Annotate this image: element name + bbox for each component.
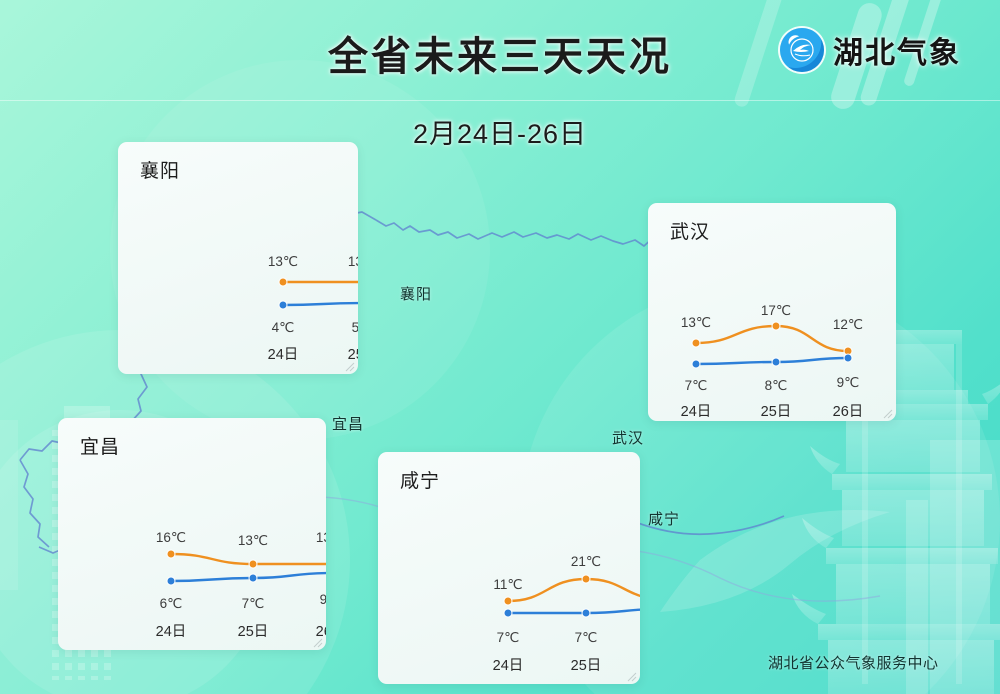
high-temp-label: 21℃: [571, 554, 601, 569]
low-temp-label: 7℃: [685, 378, 708, 393]
high-temp-label: 17℃: [761, 303, 791, 318]
resize-handle-icon[interactable]: [341, 358, 355, 372]
brand-logo: 湖北气象: [780, 28, 961, 72]
high-temp-label: 12℃: [833, 317, 863, 332]
high-temp-label: 13℃: [316, 530, 326, 545]
low-temp-label: 7℃: [242, 596, 265, 611]
header-divider: [0, 100, 1000, 101]
day-axis-label: 26日: [833, 404, 864, 420]
low-temp-label: 7℃: [497, 630, 520, 645]
infographic-root: 全省未来三天天况 2月24日-26日 湖北气象 襄阳宜昌武汉咸宁 襄阳13℃13…: [0, 0, 1000, 694]
resize-handle-icon[interactable]: [623, 668, 637, 682]
day-axis-label: 25日: [571, 658, 602, 674]
day-axis-label: 25日: [761, 404, 792, 420]
day-axis-label: 24日: [493, 658, 524, 674]
map-label-xianning: 咸宁: [648, 508, 680, 529]
day-axis-label: 25日: [238, 624, 269, 640]
hubei-weather-emblem-icon: [780, 28, 824, 72]
day-axis-label: 24日: [681, 404, 712, 420]
low-temp-label: 6℃: [160, 596, 183, 611]
city-card-xiangyang[interactable]: 襄阳13℃13℃12℃4℃5℃6℃24日25日26日: [118, 142, 358, 374]
brand-name: 湖北气象: [833, 28, 961, 72]
temperature-line-chart: 13℃13℃12℃4℃5℃6℃24日25日26日: [118, 142, 358, 374]
map-label-xiangyang: 襄阳: [400, 283, 432, 304]
city-card-xianning[interactable]: 咸宁11℃21℃12℃7℃7℃8℃24日25日26日: [378, 452, 640, 684]
low-temp-label: 9℃: [837, 375, 860, 390]
high-temp-label: 13℃: [681, 315, 711, 330]
low-temp-label: 8℃: [765, 378, 788, 393]
high-temp-label: 16℃: [156, 530, 186, 545]
temperature-line-chart: 16℃13℃13℃6℃7℃9℃24日25日26日: [58, 418, 326, 650]
city-card-wuhan[interactable]: 武汉13℃17℃12℃7℃8℃9℃24日25日26日: [648, 203, 896, 421]
resize-handle-icon[interactable]: [879, 405, 893, 419]
low-temp-label: 4℃: [272, 320, 295, 335]
high-temp-label: 13℃: [238, 533, 268, 548]
day-axis-label: 24日: [156, 624, 187, 640]
city-card-yichang[interactable]: 宜昌16℃13℃13℃6℃7℃9℃24日25日26日: [58, 418, 326, 650]
map-label-yichang: 宜昌: [332, 413, 364, 434]
resize-handle-icon[interactable]: [309, 634, 323, 648]
temperature-line-chart: 11℃21℃12℃7℃7℃8℃24日25日26日: [378, 452, 640, 684]
high-temp-label: 11℃: [493, 577, 522, 592]
day-axis-label: 24日: [268, 347, 299, 363]
low-temp-label: 5℃: [352, 320, 358, 335]
map-label-wuhan: 武汉: [612, 427, 644, 448]
low-temp-label: 7℃: [575, 630, 598, 645]
footer-credit: 湖北省公众气象服务中心: [768, 652, 939, 673]
low-temp-label: 9℃: [320, 592, 326, 607]
high-temp-label: 13℃: [348, 254, 358, 269]
high-temp-label: 13℃: [268, 254, 298, 269]
temperature-line-chart: 13℃17℃12℃7℃8℃9℃24日25日26日: [648, 203, 896, 421]
